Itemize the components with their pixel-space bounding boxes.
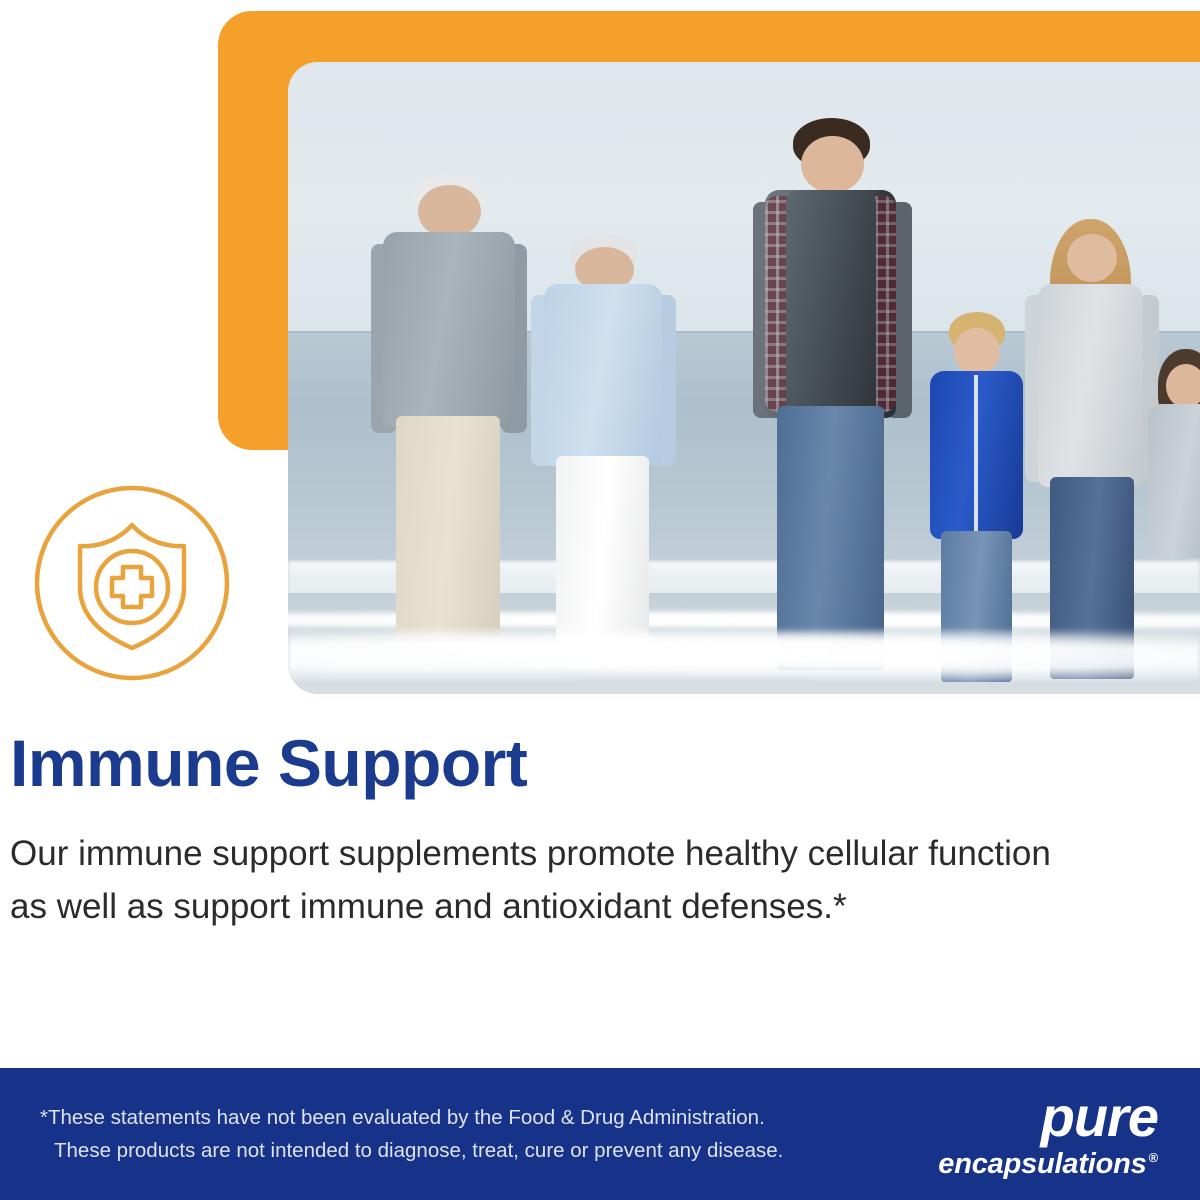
khaki-pants	[396, 416, 500, 638]
disclaimer-line-1: *These statements have not been evaluate…	[40, 1106, 765, 1129]
beach-scene-illustration	[288, 62, 1200, 694]
footer-bar: *These statements have not been evaluate…	[0, 1068, 1200, 1200]
light-blue-sweater	[544, 284, 662, 466]
quilted-vest	[786, 190, 876, 418]
disclaimer-line-2: These products are not intended to diagn…	[40, 1134, 783, 1167]
shield-cross-icon	[32, 483, 232, 683]
person-grandfather	[361, 138, 534, 694]
brand-name-primary: pure	[938, 1089, 1158, 1145]
hoodie-zipper	[974, 375, 978, 534]
text-content: Immune Support Our immune support supple…	[0, 728, 1100, 934]
gray-sweater	[383, 232, 515, 427]
family-beach-photo	[288, 62, 1200, 694]
head	[954, 328, 1000, 376]
brand-word: encapsulations	[938, 1148, 1146, 1180]
registered-trademark-icon: ®	[1149, 1150, 1158, 1165]
person-father	[744, 94, 917, 694]
gray-cardigan	[1038, 284, 1143, 486]
brand-name-secondary: encapsulations®	[938, 1150, 1158, 1179]
head	[1067, 234, 1117, 282]
water-splash	[288, 618, 1200, 681]
pure-encapsulations-logo: pure encapsulations®	[938, 1089, 1158, 1179]
fda-disclaimer: *These statements have not been evaluate…	[40, 1101, 783, 1167]
head	[418, 185, 480, 238]
page-description: Our immune support supplements promote h…	[10, 827, 1070, 933]
immune-support-marketing-card: Immune Support Our immune support supple…	[0, 0, 1200, 1200]
head	[1166, 364, 1200, 408]
page-title: Immune Support	[10, 728, 1100, 799]
gray-top	[1148, 404, 1200, 558]
head	[801, 136, 863, 193]
